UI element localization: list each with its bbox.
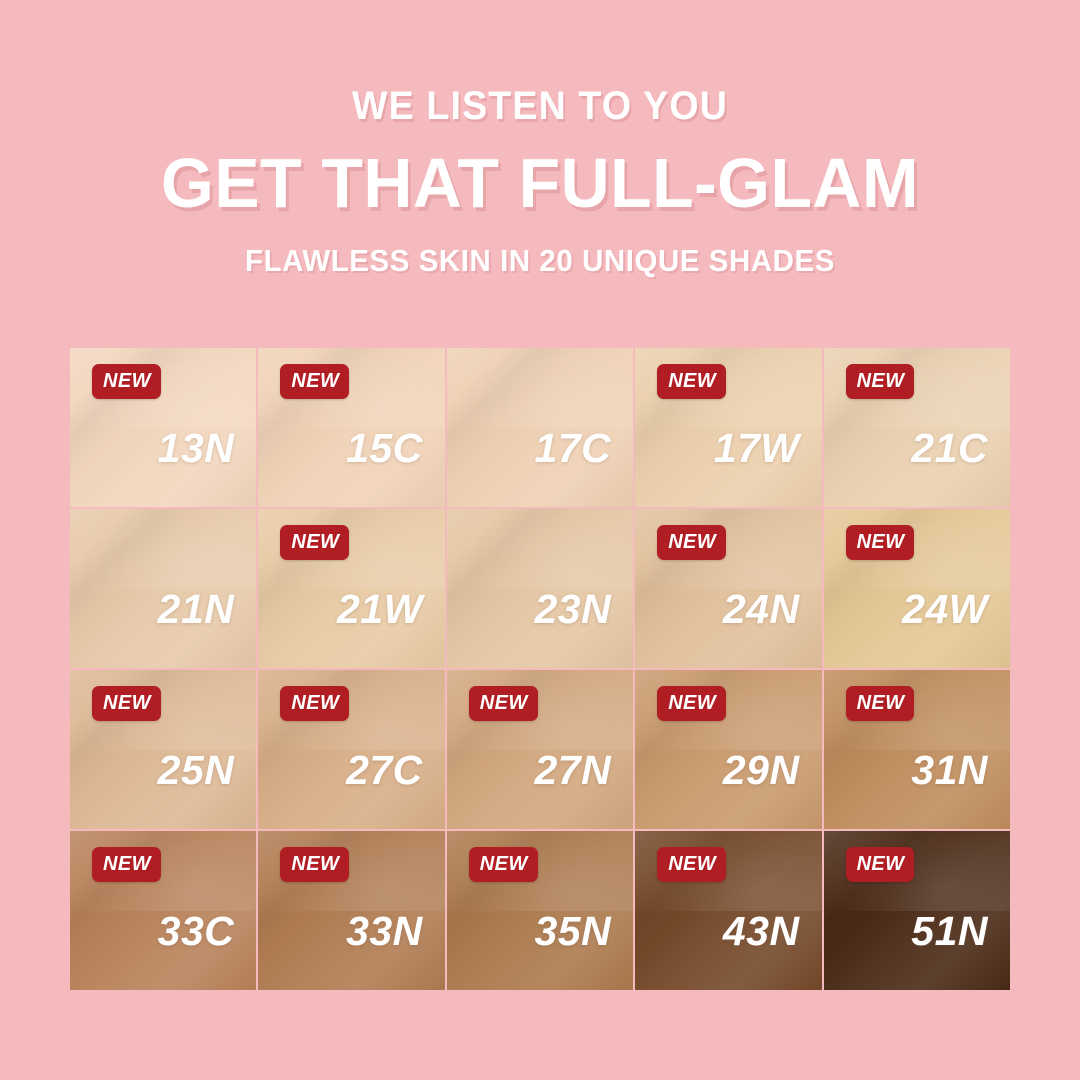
shade-code-label: 51N xyxy=(911,911,988,952)
shade-swatch[interactable]: NEW25N xyxy=(70,670,256,829)
shade-code-label: 24N xyxy=(723,589,800,630)
shade-code-label: 17C xyxy=(534,428,611,469)
shade-code-label: 43N xyxy=(723,911,800,952)
new-badge: NEW xyxy=(657,847,726,882)
shade-code-label: 21W xyxy=(337,589,423,630)
shade-swatch[interactable]: NEW15C xyxy=(258,348,444,507)
shade-swatch[interactable]: NEW24W xyxy=(824,509,1010,668)
new-badge: NEW xyxy=(280,847,349,882)
shade-swatch[interactable]: 21N xyxy=(70,509,256,668)
shade-code-label: 24W xyxy=(902,589,988,630)
shade-swatch[interactable]: NEW43N xyxy=(635,831,821,990)
shade-swatch[interactable]: 17C xyxy=(447,348,633,507)
new-badge: NEW xyxy=(657,525,726,560)
shade-code-label: 27C xyxy=(346,750,423,791)
new-badge: NEW xyxy=(846,686,915,721)
new-badge: NEW xyxy=(657,364,726,399)
shade-code-label: 29N xyxy=(723,750,800,791)
shade-code-label: 21C xyxy=(911,428,988,469)
shade-code-label: 23N xyxy=(534,589,611,630)
new-badge: NEW xyxy=(469,686,538,721)
shade-code-label: 27N xyxy=(534,750,611,791)
shade-swatch[interactable]: NEW13N xyxy=(70,348,256,507)
shade-swatch[interactable]: NEW21W xyxy=(258,509,444,668)
header-headline: GET THAT FULL-GLAM xyxy=(16,148,1064,218)
shade-swatch[interactable]: NEW24N xyxy=(635,509,821,668)
new-badge: NEW xyxy=(92,364,161,399)
shade-swatch[interactable]: NEW27C xyxy=(258,670,444,829)
shade-swatch[interactable]: NEW31N xyxy=(824,670,1010,829)
new-badge: NEW xyxy=(469,847,538,882)
new-badge: NEW xyxy=(657,686,726,721)
shade-swatch[interactable]: NEW33C xyxy=(70,831,256,990)
shade-code-label: 31N xyxy=(911,750,988,791)
shade-code-label: 17W xyxy=(714,428,800,469)
new-badge: NEW xyxy=(846,847,915,882)
shade-swatch[interactable]: NEW21C xyxy=(824,348,1010,507)
new-badge: NEW xyxy=(846,525,915,560)
shade-code-label: 33N xyxy=(346,911,423,952)
new-badge: NEW xyxy=(280,364,349,399)
shade-code-label: 15C xyxy=(346,428,423,469)
header-eyebrow: WE LISTEN TO YOU xyxy=(32,86,1047,126)
shade-swatch[interactable]: NEW33N xyxy=(258,831,444,990)
shade-swatch[interactable]: 23N xyxy=(447,509,633,668)
shade-code-label: 35N xyxy=(534,911,611,952)
shade-code-label: 33C xyxy=(158,911,235,952)
new-badge: NEW xyxy=(280,525,349,560)
shade-swatch[interactable]: NEW27N xyxy=(447,670,633,829)
header-subline: FLAWLESS SKIN IN 20 UNIQUE SHADES xyxy=(27,245,1053,276)
shade-swatch[interactable]: NEW35N xyxy=(447,831,633,990)
new-badge: NEW xyxy=(92,686,161,721)
shade-code-label: 25N xyxy=(158,750,235,791)
new-badge: NEW xyxy=(92,847,161,882)
shade-code-label: 13N xyxy=(158,428,235,469)
shade-swatch[interactable]: NEW29N xyxy=(635,670,821,829)
promo-header: WE LISTEN TO YOU GET THAT FULL-GLAM FLAW… xyxy=(0,0,1080,276)
shade-grid: NEW13NNEW15C17CNEW17WNEW21C21NNEW21W23NN… xyxy=(70,348,1010,990)
new-badge: NEW xyxy=(280,686,349,721)
shade-swatch[interactable]: NEW17W xyxy=(635,348,821,507)
shade-swatch[interactable]: NEW51N xyxy=(824,831,1010,990)
shade-code-label: 21N xyxy=(158,589,235,630)
new-badge: NEW xyxy=(846,364,915,399)
